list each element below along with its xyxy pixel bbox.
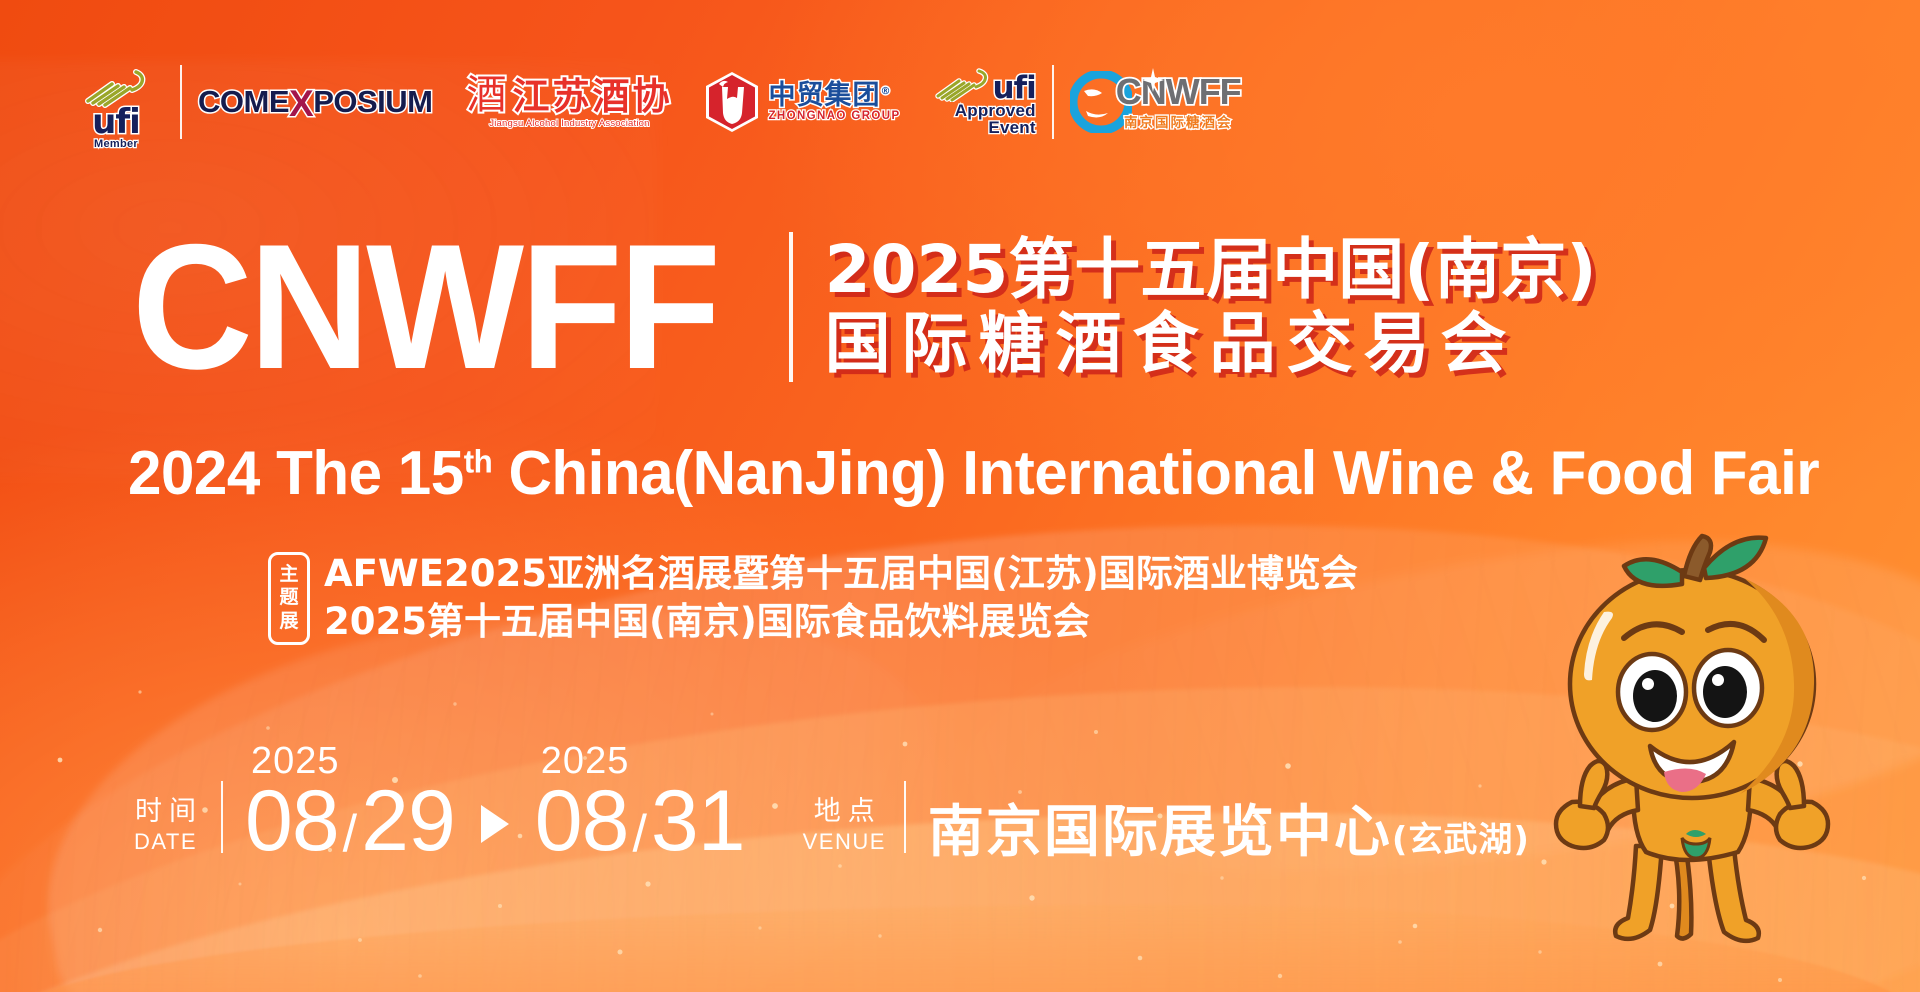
date-range-arrow-icon [481,805,509,843]
logo-ufi-member[interactable]: ufi Member [66,54,180,150]
theme-badge-char-3: 展 [279,611,298,633]
date-end-month: 08 [535,782,629,861]
event-info-bar: 时间 DATE 2025 08 / 29 2025 08 / 31 [128,742,1530,861]
sparkle-icon [1140,67,1166,93]
logo-comexposium-x: X [289,83,313,125]
logo-ufi-approved-line1: Approved [955,102,1036,119]
logo-comexposium[interactable]: COME X POSIUM [182,54,448,150]
date-end-day: 31 [651,782,745,861]
logo-jiangsu-en: Jiangsu Alcohol Industry Association [489,118,649,129]
page-title-cn-line2: 国际糖酒食品交易会 [825,307,1597,381]
logo-comexposium-part1: COME [198,84,289,120]
logo-ufi-member-sub: Member [94,138,138,150]
date-divider [221,781,223,853]
date-start: 2025 08 / 29 [245,742,455,861]
orange-mascot [1512,516,1892,986]
venue-group: 地点 VENUE 南京国际展览中心 (玄武湖) [803,781,1530,861]
theme-line-1: AFWE2025亚洲名酒展暨第十五届中国(江苏)国际酒业博览会 [324,552,1358,596]
hero-title-block: CNWFF 2025第十五届中国(南京) 国际糖酒食品交易会 [0,230,1920,383]
logo-zhongmao-cn: 中贸集团® [768,82,900,110]
ufi-approved-swoosh-icon [933,68,991,102]
subtitle-ordinal: th [464,443,493,479]
title-divider [789,232,793,382]
logo-ufi-approved-word: ufi [993,75,1036,101]
venue-label-en: VENUE [803,829,886,855]
date-label-cn: 时间 [128,796,203,828]
date-start-day: 29 [361,782,455,861]
logo-comexposium-part2: POSIUM [313,84,432,120]
subtitle-pre: 2024 The 15 [128,439,464,508]
logo-cnwff-cn: 南京国际糖酒会 [1116,111,1241,131]
theme-exhibition-block: 主 题 展 AFWE2025亚洲名酒展暨第十五届中国(江苏)国际酒业博览会 20… [268,552,1358,645]
logo-ufi-approved-event[interactable]: ufi Approved Event [917,54,1052,150]
date-range: 2025 08 / 29 2025 08 / 31 [245,742,745,861]
theme-badge-char-1: 主 [279,564,298,586]
date-end: 2025 08 / 31 [535,742,745,861]
date-start-month: 08 [245,782,339,861]
logo-zhongmao-group[interactable]: 中贸集团® ZHONGNAO GROUP [688,54,916,150]
page-title-acronym: CNWFF [132,230,717,383]
theme-line-2: 2025第十五届中国(南京)国际食品饮料展览会 [324,600,1358,644]
theme-badge: 主 题 展 [268,552,310,645]
logo-cnwff-acronym: CNWFF [1116,74,1241,110]
venue-label-cn: 地点 [807,796,882,828]
theme-badge-char-2: 题 [279,587,298,609]
ufi-swoosh-icon [82,68,150,108]
venue-label: 地点 VENUE [803,796,886,861]
date-label-en: DATE [134,829,197,855]
date-start-separator: / [343,811,357,859]
logo-ufi-approved-line2: Event [988,119,1035,136]
date-end-separator: / [632,811,646,859]
venue-divider [904,781,906,853]
logo-zhongmao-en: ZHONGNAO GROUP [768,110,900,122]
venue-name: 南京国际展览中心 [928,805,1392,861]
zhongmao-hexagon-icon [704,71,760,133]
event-banner: ufi Member COME X POSIUM 酒 江苏酒协 Jiangsu … [0,0,1920,992]
logo-jiangsu-cn: 江苏酒协 [512,78,672,115]
date-label: 时间 DATE [128,796,203,861]
venue-detail: (玄武湖) [1392,823,1530,857]
logo-jiangsu-alcohol-association[interactable]: 酒 江苏酒协 Jiangsu Alcohol Industry Associat… [450,54,688,150]
subtitle-post: China(NanJing) International Wine & Food… [492,439,1819,508]
logo-jiangsu-seal: 酒 [466,75,506,115]
partner-logo-bar: ufi Member COME X POSIUM 酒 江苏酒协 Jiangsu … [66,54,1257,150]
logo-cnwff[interactable]: CNWFF 南京国际糖酒会 [1054,54,1257,150]
page-subtitle-en: 2024 The 15th China(NanJing) Internation… [128,438,1819,509]
page-title-cn-line1: 2025第十五届中国(南京) [825,233,1597,307]
logo-ufi-member-word: ufi [92,108,140,137]
